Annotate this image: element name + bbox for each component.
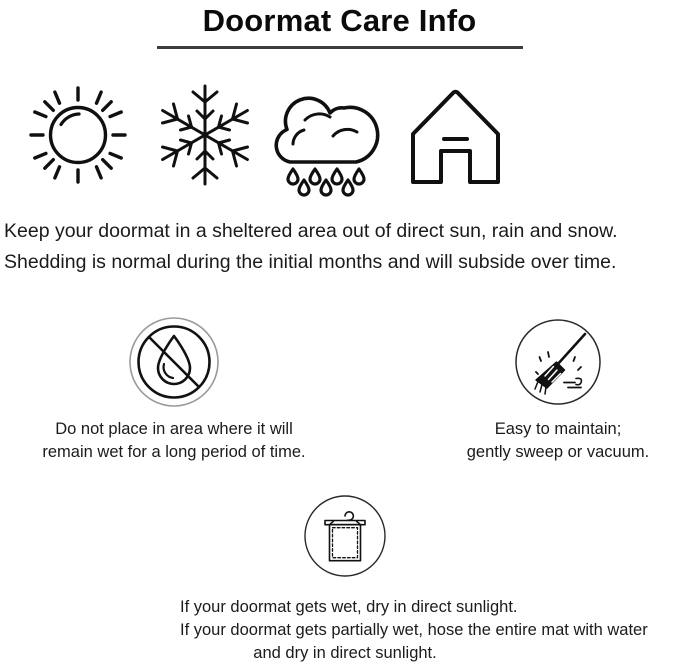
hang-dry-icon	[299, 490, 391, 582]
care-info-sheet: Doormat Care Info	[0, 0, 679, 655]
weather-icon-row	[0, 72, 679, 198]
intro-line-1: Keep your doormat in a sheltered area ou…	[4, 216, 679, 247]
title-underline-rule	[157, 46, 523, 49]
care-caption-line-2: gently sweep or vacuum.	[393, 441, 679, 464]
care-item-hang-dry: If your doormat gets wet, dry in direct …	[180, 490, 510, 665]
intro-paragraph: Keep your doormat in a sheltered area ou…	[0, 216, 679, 278]
sun-icon	[13, 72, 143, 198]
snowflake-icon	[140, 72, 270, 198]
care-item-no-standing-water: Do not place in area where it will remai…	[9, 316, 339, 464]
rain-cloud-icon	[260, 72, 390, 198]
care-caption-line-1: Do not place in area where it will	[9, 418, 339, 441]
care-caption-easy-maintain: Easy to maintain; gently sweep or vacuum…	[393, 418, 679, 464]
broom-sweep-icon	[512, 316, 604, 408]
care-caption-line-2: remain wet for a long period of time.	[9, 441, 339, 464]
care-caption-no-standing-water: Do not place in area where it will remai…	[9, 418, 339, 464]
no-water-icon	[128, 316, 220, 408]
care-caption-line-3: and dry in direct sunlight.	[180, 642, 510, 665]
house-icon	[390, 72, 520, 198]
page-title-block: Doormat Care Info	[0, 0, 679, 49]
intro-line-2: Shedding is normal during the initial mo…	[4, 247, 679, 278]
care-item-easy-maintain: Easy to maintain; gently sweep or vacuum…	[393, 316, 679, 464]
care-caption-line-1: If your doormat gets wet, dry in direct …	[180, 596, 510, 619]
care-caption-line-2: If your doormat gets partially wet, hose…	[180, 619, 510, 642]
page-title: Doormat Care Info	[0, 0, 679, 40]
care-caption-line-1: Easy to maintain;	[393, 418, 679, 441]
